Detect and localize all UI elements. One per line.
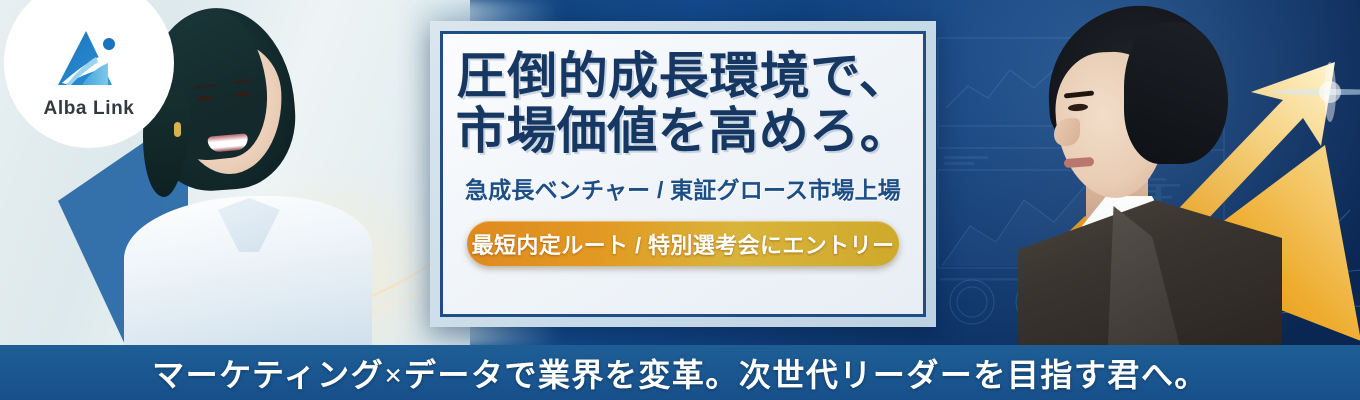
headline-line-2: 市場価値を高めろ。 bbox=[456, 104, 911, 159]
headline: 圧倒的成長環境で、 市場価値を高めろ。 bbox=[456, 49, 911, 159]
entry-cta-button[interactable]: 最短内定ルート / 特別選考会にエントリー bbox=[467, 221, 899, 266]
brand-name: Alba Link bbox=[44, 98, 135, 120]
tagline-bar: マーケティング×データで業界を変革。次世代リーダーを目指す君へ。 bbox=[0, 345, 1360, 400]
entry-cta-label: 最短内定ルート / 特別選考会にエントリー bbox=[472, 228, 895, 260]
triangle-mountain-logo-icon bbox=[52, 29, 126, 91]
right-person-photo bbox=[1012, 0, 1282, 346]
tagline-text: マーケティング×データで業界を変革。次世代リーダーを目指す君へ。 bbox=[152, 350, 1208, 396]
headline-line-1: 圧倒的成長環境で、 bbox=[457, 48, 910, 104]
subtitle: 急成長ベンチャー / 東証グロース市場上場 bbox=[465, 171, 901, 205]
message-card: 圧倒的成長環境で、 市場価値を高めろ。 急成長ベンチャー / 東証グロース市場上… bbox=[430, 21, 936, 327]
recruitment-banner: Alba Link 圧倒的成長環境で、 市場価値を高めろ。 急成長ベンチャー /… bbox=[0, 0, 1360, 400]
message-card-inner: 圧倒的成長環境で、 市場価値を高めろ。 急成長ベンチャー / 東証グロース市場上… bbox=[440, 31, 926, 317]
